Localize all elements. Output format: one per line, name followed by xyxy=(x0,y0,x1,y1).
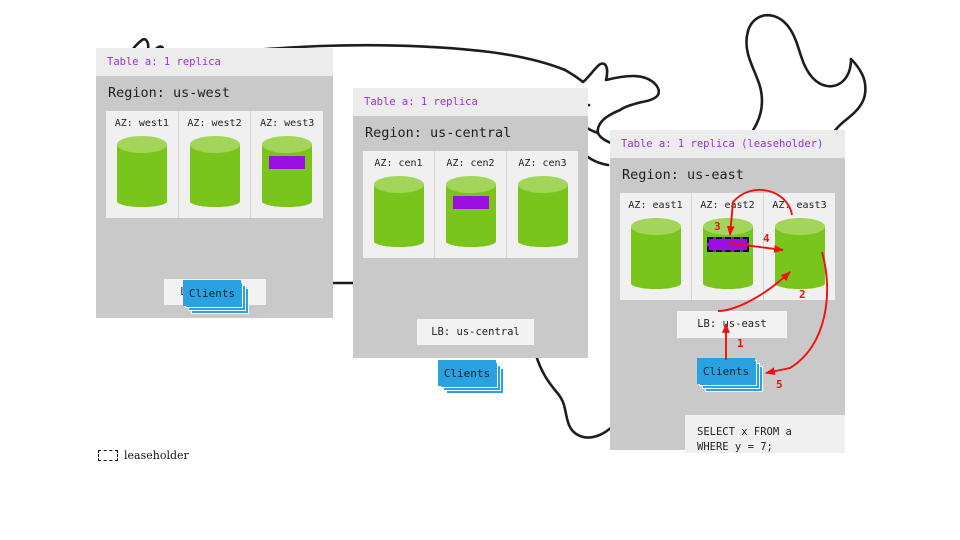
region-title-us-central: Region: us-central xyxy=(363,116,578,152)
legend: leaseholder xyxy=(98,450,189,461)
cylinder-top xyxy=(262,136,312,153)
cylinder-top xyxy=(117,136,167,153)
az-cen2-replica[interactable] xyxy=(453,196,489,209)
lb-us-central[interactable]: LB: us-central xyxy=(417,319,534,345)
cylinder-top xyxy=(190,136,240,153)
az-row-us-central: AZ: cen1 AZ: cen2 AZ: cen3 xyxy=(363,151,578,258)
leaseholder-swatch-icon xyxy=(98,450,118,461)
az-west1-cylinder[interactable] xyxy=(117,136,167,208)
cylinder-body xyxy=(262,144,312,207)
az-east3-label: AZ: east3 xyxy=(772,201,826,211)
az-east2-cylinder[interactable] xyxy=(703,218,753,290)
cylinder-top xyxy=(631,218,681,235)
az-cen1-cylinder[interactable] xyxy=(374,176,424,248)
az-west1[interactable]: AZ: west1 xyxy=(106,111,179,218)
clients-us-east-label[interactable]: Clients xyxy=(697,358,755,384)
cylinder-top xyxy=(518,176,568,193)
cylinder-body xyxy=(775,226,825,289)
az-row-us-east: AZ: east1 AZ: east2 AZ: east3 xyxy=(620,193,835,300)
az-east2-leaseholder-replica[interactable] xyxy=(707,237,749,252)
region-header-us-central: Table a: 1 replica xyxy=(353,88,588,116)
az-west3-replica[interactable] xyxy=(269,156,305,169)
region-title-us-west: Region: us-west xyxy=(106,76,323,112)
cylinder-body xyxy=(446,184,496,247)
az-east1-cylinder[interactable] xyxy=(631,218,681,290)
az-east3[interactable]: AZ: east3 xyxy=(764,193,835,300)
az-east3-cylinder[interactable] xyxy=(775,218,825,290)
az-west2[interactable]: AZ: west2 xyxy=(179,111,252,218)
lb-us-east[interactable]: LB: us-east xyxy=(677,311,787,338)
az-cen3-label: AZ: cen3 xyxy=(518,159,566,169)
cylinder-body xyxy=(190,144,240,207)
diagram-canvas: Table a: 1 replica Region: us-west AZ: w… xyxy=(0,0,960,540)
az-east1[interactable]: AZ: east1 xyxy=(620,193,692,300)
az-cen2-label: AZ: cen2 xyxy=(446,159,494,169)
region-body-us-east: Region: us-east AZ: east1 AZ: east2 xyxy=(610,158,845,450)
az-west3-label: AZ: west3 xyxy=(260,119,314,129)
clients-us-central-label[interactable]: Clients xyxy=(438,360,496,386)
region-panel-us-east: Table a: 1 replica (leaseholder) Region:… xyxy=(610,130,845,450)
az-west2-cylinder[interactable] xyxy=(190,136,240,208)
az-west3[interactable]: AZ: west3 xyxy=(251,111,323,218)
legend-label: leaseholder xyxy=(124,450,189,461)
arrow-label-2: 2 xyxy=(799,289,806,300)
az-east1-label: AZ: east1 xyxy=(628,201,682,211)
az-west3-cylinder[interactable] xyxy=(262,136,312,208)
az-east2-label: AZ: east2 xyxy=(700,201,754,211)
cylinder-top xyxy=(374,176,424,193)
cylinder-body xyxy=(374,184,424,247)
clients-us-west[interactable]: Clients xyxy=(183,280,249,314)
az-cen1-label: AZ: cen1 xyxy=(374,159,422,169)
az-cen1[interactable]: AZ: cen1 xyxy=(363,151,435,258)
az-cen3[interactable]: AZ: cen3 xyxy=(507,151,578,258)
region-header-us-east: Table a: 1 replica (leaseholder) xyxy=(610,130,845,158)
region-title-us-east: Region: us-east xyxy=(620,158,835,194)
cylinder-top xyxy=(775,218,825,235)
region-header-us-west: Table a: 1 replica xyxy=(96,48,333,76)
clients-us-east[interactable]: Clients xyxy=(697,358,763,392)
cylinder-body xyxy=(703,226,753,289)
arrow-label-5: 5 xyxy=(776,379,783,390)
arrow-label-4: 4 xyxy=(763,233,770,244)
cylinder-body xyxy=(631,226,681,289)
arrow-label-3: 3 xyxy=(714,221,721,232)
clients-us-west-label[interactable]: Clients xyxy=(183,280,241,306)
arrow-label-1: 1 xyxy=(737,338,744,349)
az-cen2-cylinder[interactable] xyxy=(446,176,496,248)
cylinder-top xyxy=(446,176,496,193)
az-west1-label: AZ: west1 xyxy=(115,119,169,129)
az-west2-label: AZ: west2 xyxy=(187,119,241,129)
cylinder-top xyxy=(703,218,753,235)
sql-query-box: SELECT x FROM a WHERE y = 7; xyxy=(685,415,845,453)
region-panel-us-central: Table a: 1 replica Region: us-central AZ… xyxy=(353,88,588,358)
clients-us-central[interactable]: Clients xyxy=(438,360,504,394)
az-cen3-cylinder[interactable] xyxy=(518,176,568,248)
region-panel-us-west: Table a: 1 replica Region: us-west AZ: w… xyxy=(96,48,333,318)
cylinder-body xyxy=(518,184,568,247)
cylinder-body xyxy=(117,144,167,207)
az-row-us-west: AZ: west1 AZ: west2 AZ: west3 xyxy=(106,111,323,218)
az-east2[interactable]: AZ: east2 xyxy=(692,193,764,300)
az-cen2[interactable]: AZ: cen2 xyxy=(435,151,507,258)
